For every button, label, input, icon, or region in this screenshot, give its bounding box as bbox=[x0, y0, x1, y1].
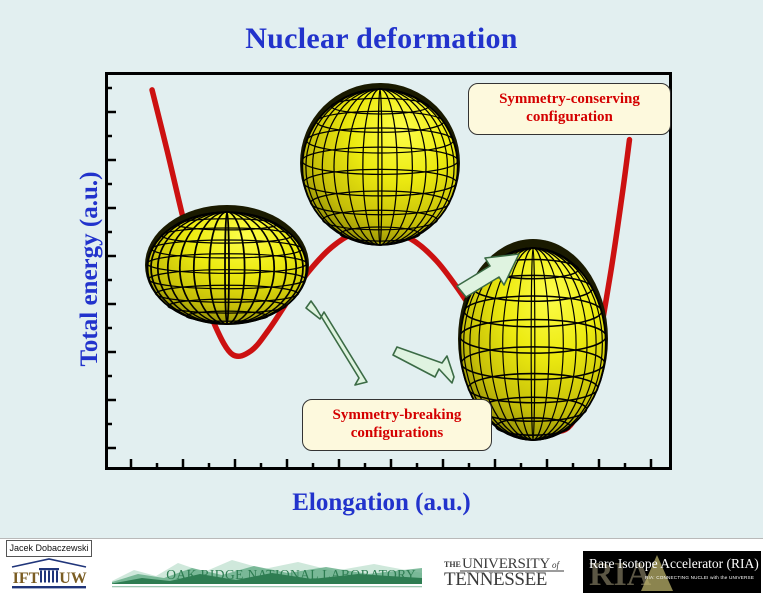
oblate-ellipsoid bbox=[145, 205, 309, 325]
x-axis-title: Elongation (a.u.) bbox=[0, 489, 763, 517]
logo-ria-title: Rare Isotope Accelerator (RIA) bbox=[589, 556, 759, 571]
slide-footer: Jacek Dobaczewski IFT UW OAK RIDGE NATIO… bbox=[0, 538, 763, 598]
logo-ria-tagline: RIA: CONNECTING NUCLEI with the UNIVERSE bbox=[645, 575, 754, 580]
y-axis-ticks bbox=[105, 88, 116, 448]
logo-ift-uw: IFT UW bbox=[8, 557, 90, 595]
spherical-nucleus bbox=[300, 83, 460, 245]
callout-conserving-line1: Symmetry-conserving bbox=[477, 90, 662, 108]
callout-breaking-line2: configurations bbox=[311, 424, 483, 442]
logo-ornl-text: OAK RIDGE NATIONAL LABORATORY bbox=[166, 567, 416, 582]
callout-symmetry-conserving: Symmetry-conserving configuration bbox=[468, 83, 671, 135]
columns-icon bbox=[39, 568, 59, 583]
callout-symmetry-breaking: Symmetry-breaking configurations bbox=[302, 399, 492, 451]
logo-oak-ridge: OAK RIDGE NATIONAL LABORATORY bbox=[112, 551, 422, 591]
arrow-to-oblate bbox=[306, 301, 367, 385]
author-name: Jacek Dobaczewski bbox=[6, 540, 92, 557]
logo-ut-the: THE bbox=[444, 560, 461, 569]
logo-uw-text: UW bbox=[59, 570, 87, 587]
logo-rare-isotope-accelerator: RIA Rare Isotope Accelerator (RIA) RIA: … bbox=[583, 551, 761, 593]
logo-ift-text: IFT bbox=[13, 570, 40, 587]
slide-canvas: Nuclear deformation bbox=[0, 0, 763, 538]
callout-breaking-line1: Symmetry-breaking bbox=[311, 406, 483, 424]
callout-conserving-line2: configuration bbox=[477, 108, 662, 126]
page-title: Nuclear deformation bbox=[0, 22, 763, 56]
y-axis-title: Total energy (a.u.) bbox=[76, 119, 104, 419]
x-axis-ticks bbox=[131, 459, 651, 470]
logo-university-of-tennessee: THE UNIVERSITY of TENNESSEE bbox=[440, 551, 568, 591]
logo-ut-tennessee: TENNESSEE bbox=[444, 569, 547, 590]
logo-ut-of: of bbox=[552, 560, 561, 570]
arrow-to-prolate bbox=[393, 347, 454, 383]
